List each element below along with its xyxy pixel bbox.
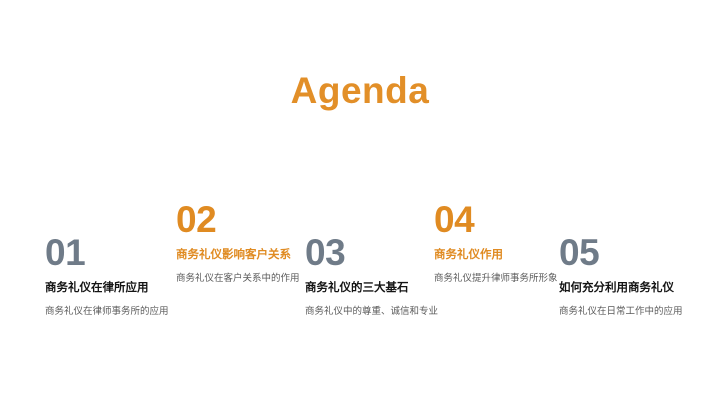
agenda-item-heading: 商务礼仪影响客户关系 xyxy=(176,249,316,263)
agenda-item-04: 04 商务礼仪作用 商务礼仪提升律师事务所形象 xyxy=(434,201,574,285)
agenda-item-description: 商务礼仪在律师事务所的应用 xyxy=(45,306,185,318)
page-title: Agenda xyxy=(0,72,720,111)
agenda-item-description: 商务礼仪提升律师事务所形象 xyxy=(434,273,574,285)
agenda-item-heading: 商务礼仪的三大基石 xyxy=(305,282,445,296)
agenda-slide: Agenda 01 商务礼仪在律所应用 商务礼仪在律师事务所的应用 02 商务礼… xyxy=(0,0,720,404)
agenda-item-number: 05 xyxy=(559,234,699,271)
agenda-list: 01 商务礼仪在律所应用 商务礼仪在律师事务所的应用 02 商务礼仪影响客户关系… xyxy=(0,196,720,346)
agenda-item-description: 商务礼仪在客户关系中的作用 xyxy=(176,273,316,285)
agenda-item-number: 02 xyxy=(176,201,316,238)
agenda-item-heading: 如何充分利用商务礼仪 xyxy=(559,282,699,296)
agenda-item-03: 03 商务礼仪的三大基石 商务礼仪中的尊重、诚信和专业 xyxy=(305,234,445,318)
agenda-item-number: 01 xyxy=(45,234,185,271)
agenda-item-01: 01 商务礼仪在律所应用 商务礼仪在律师事务所的应用 xyxy=(45,234,185,318)
agenda-item-05: 05 如何充分利用商务礼仪 商务礼仪在日常工作中的应用 xyxy=(559,234,699,318)
agenda-item-description: 商务礼仪在日常工作中的应用 xyxy=(559,306,699,318)
agenda-item-02: 02 商务礼仪影响客户关系 商务礼仪在客户关系中的作用 xyxy=(176,201,316,285)
agenda-item-description: 商务礼仪中的尊重、诚信和专业 xyxy=(305,306,445,318)
agenda-item-number: 04 xyxy=(434,201,574,238)
agenda-item-number: 03 xyxy=(305,234,445,271)
agenda-item-heading: 商务礼仪在律所应用 xyxy=(45,282,185,296)
agenda-item-heading: 商务礼仪作用 xyxy=(434,249,574,263)
